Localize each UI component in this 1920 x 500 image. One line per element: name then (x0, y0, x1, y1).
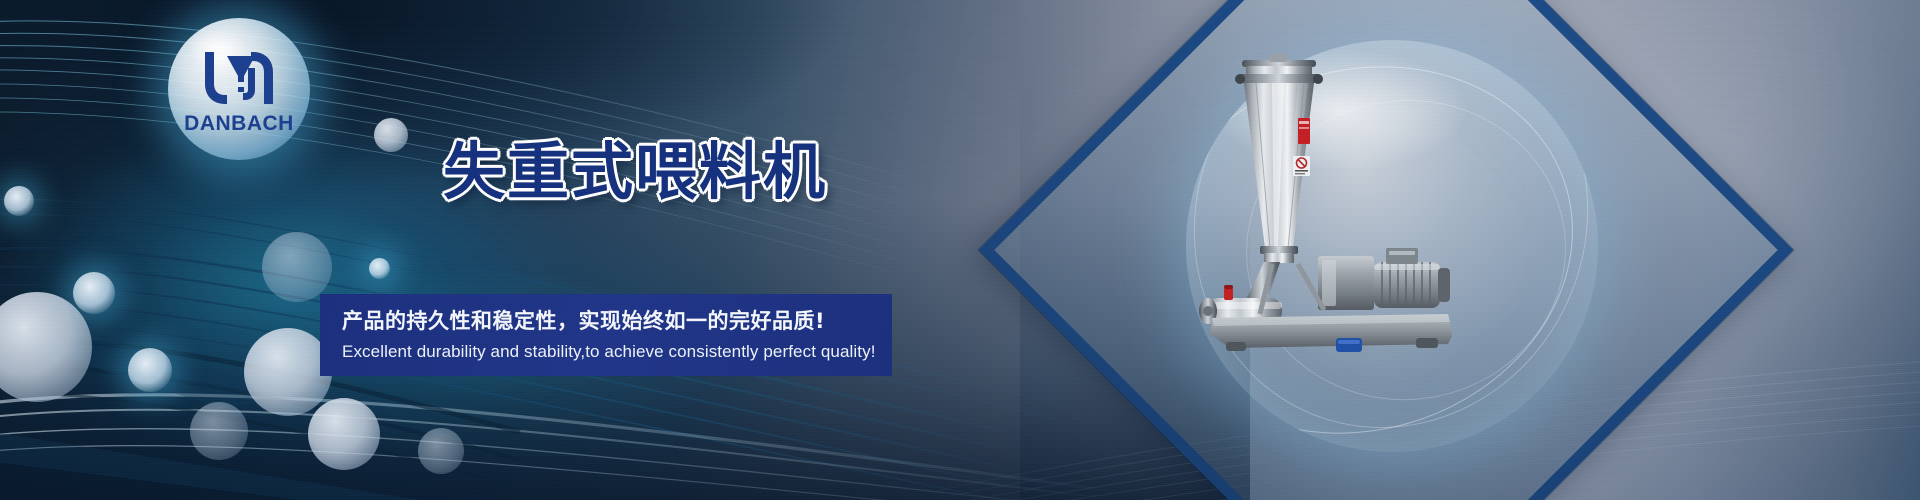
danbach-emblem-icon (197, 48, 281, 108)
loss-in-weight-feeder-image (1148, 52, 1478, 352)
tagline-english: Excellent durability and stability,to ac… (342, 342, 892, 362)
logo-brand-text: DANBACH (168, 112, 310, 136)
tagline-chinese: 产品的持久性和稳定性，实现始终如一的完好品质! (342, 308, 892, 334)
brand-logo[interactable]: DANBACH (168, 18, 310, 160)
page-title: 失重式喂料机 (443, 121, 827, 211)
tagline-box: 产品的持久性和稳定性，实现始终如一的完好品质! Excellent durabi… (320, 294, 892, 376)
product-banner: DANBACH 失重式喂料机 产品的持久性和稳定性，实现始终如一的完好品质! E… (0, 0, 1920, 500)
